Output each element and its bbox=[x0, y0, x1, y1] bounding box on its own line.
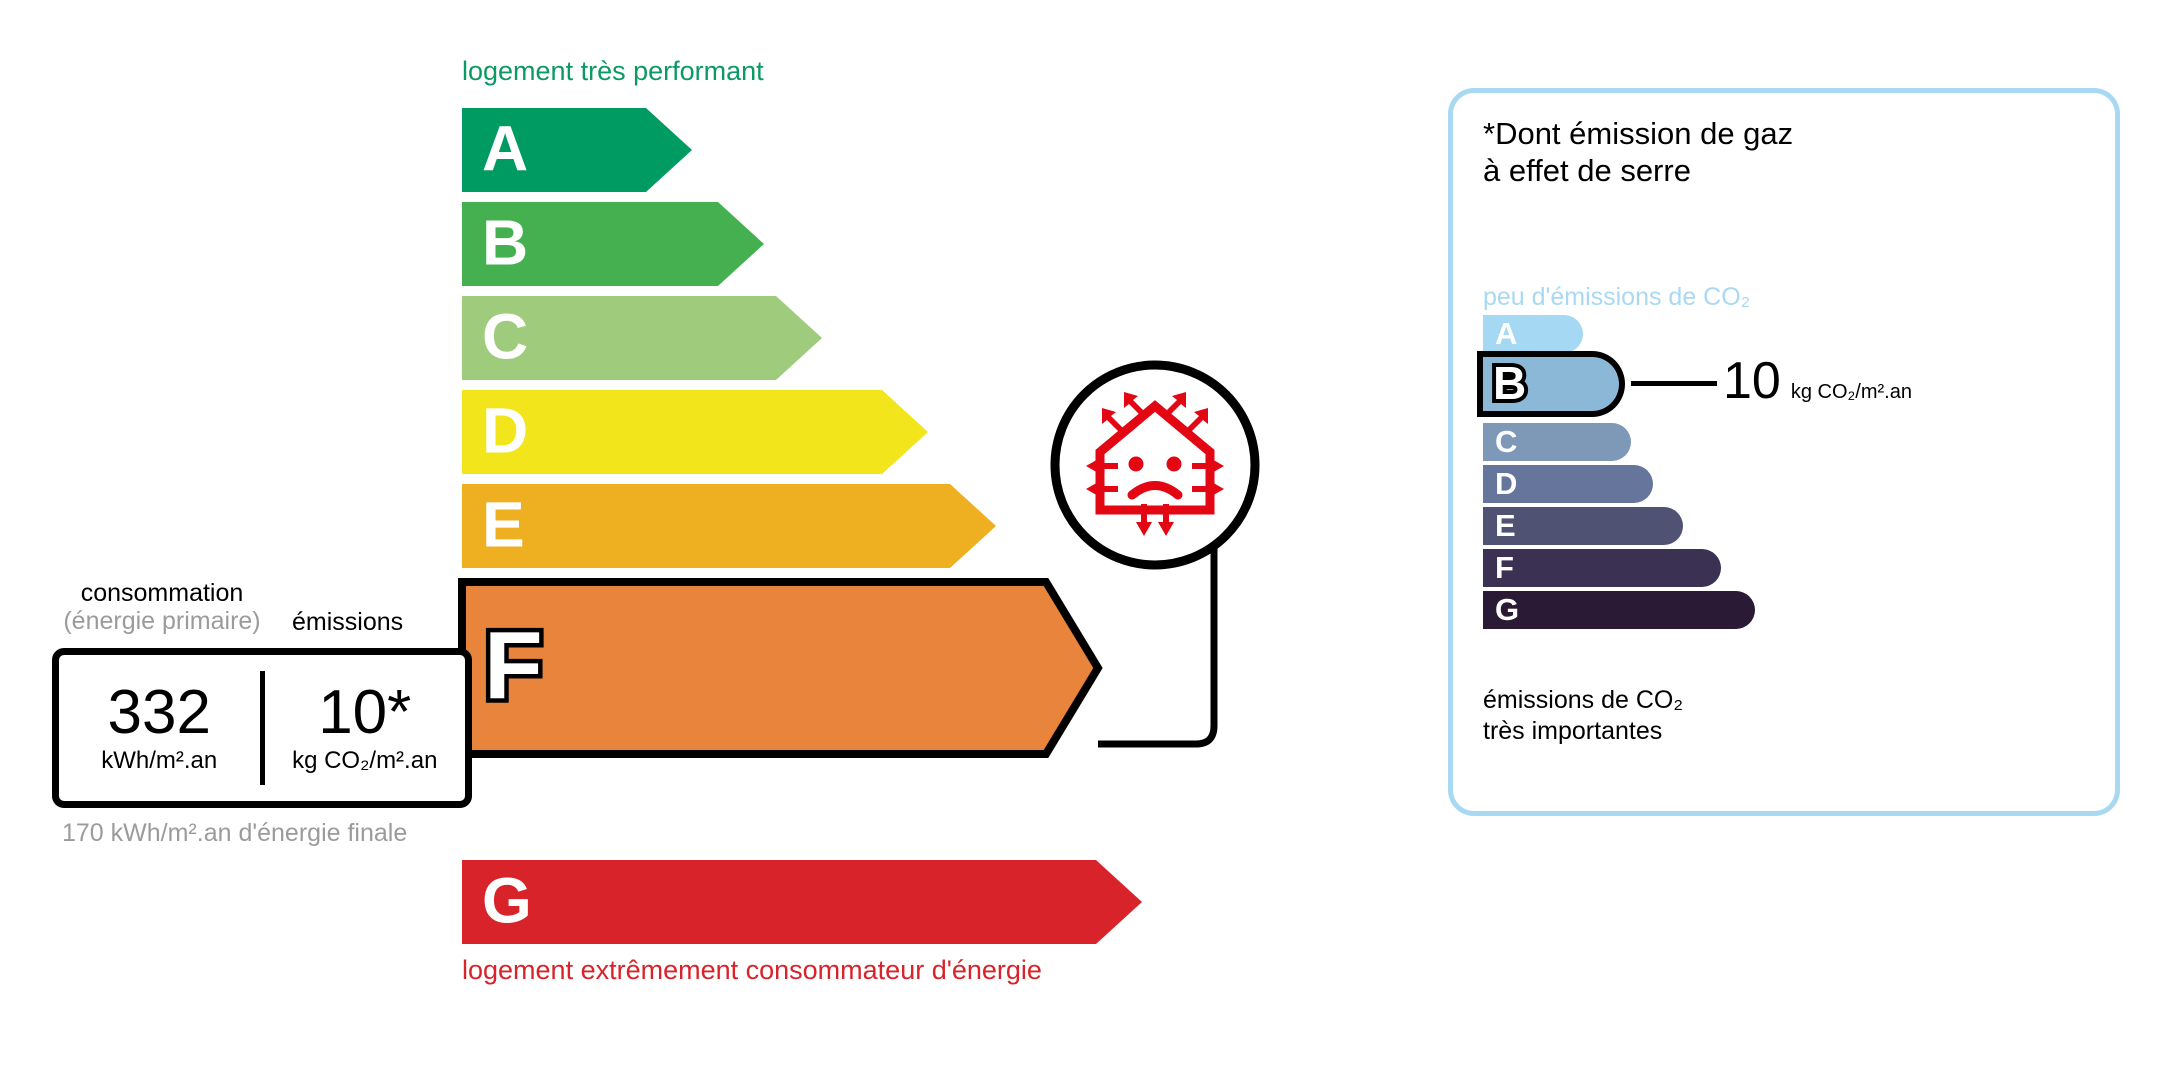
ges-bar-d-letter: D bbox=[1495, 468, 1517, 499]
ges-bar-g[interactable]: G bbox=[1483, 591, 1755, 629]
energy-band-d-shape bbox=[462, 390, 928, 474]
greenhouse-gas-panel: *Dont émission de gaz à effet de serre p… bbox=[1448, 88, 2120, 816]
energy-band-d-letter: D bbox=[482, 399, 528, 463]
sad-house-heat-loss-icon bbox=[1048, 358, 1262, 572]
ges-bar-d[interactable]: D bbox=[1483, 465, 1653, 503]
ges-scale-top-label: peu d'émissions de CO₂ bbox=[1483, 283, 1750, 312]
emissions-value: 10* bbox=[318, 681, 411, 744]
ges-value-group: 10 kg CO₂/m².an bbox=[1723, 355, 1912, 407]
ges-bar-b-letter: B bbox=[1493, 360, 1526, 406]
ges-bar-g-shape bbox=[1483, 591, 1755, 629]
ges-bar-e[interactable]: E bbox=[1483, 507, 1683, 545]
ges-bar-g-letter: G bbox=[1495, 594, 1519, 625]
energy-band-f-letter: F bbox=[484, 618, 543, 714]
energy-scale-bottom-label: logement extrêmement consommateur d'éner… bbox=[462, 955, 1042, 986]
ges-value-leader-line bbox=[1631, 381, 1717, 386]
energy-band-b[interactable]: B bbox=[462, 202, 764, 286]
emissions-value-cell: 10* kg CO₂/m².an bbox=[265, 655, 466, 801]
energy-band-d[interactable]: D bbox=[462, 390, 928, 474]
energy-performance-diagram: logement très performant A B C D E F G l… bbox=[0, 0, 1400, 1079]
ges-bar-e-letter: E bbox=[1495, 510, 1516, 541]
ges-bar-b-left-edge bbox=[1477, 351, 1483, 417]
energy-band-g-letter: G bbox=[482, 869, 532, 933]
ges-bar-b-selected[interactable]: B bbox=[1477, 351, 1625, 417]
final-energy-note: 170 kWh/m².an d'énergie finale bbox=[62, 818, 407, 849]
energy-band-e[interactable]: E bbox=[462, 484, 996, 568]
emissions-label: émissions bbox=[292, 608, 403, 637]
emissions-unit: kg CO₂/m².an bbox=[292, 747, 437, 775]
ges-bar-f[interactable]: F bbox=[1483, 549, 1721, 587]
ges-panel-title: *Dont émission de gaz à effet de serre bbox=[1483, 115, 1793, 189]
energy-band-b-letter: B bbox=[482, 211, 528, 275]
ges-bar-c-letter: C bbox=[1495, 426, 1517, 457]
ges-bar-c[interactable]: C bbox=[1483, 423, 1631, 461]
consumption-value-cell: 332 kWh/m².an bbox=[59, 655, 260, 801]
energy-scale-top-label: logement très performant bbox=[462, 56, 764, 87]
ges-bar-a-letter: A bbox=[1495, 318, 1517, 349]
measurement-box: 332 kWh/m².an 10* kg CO₂/m².an bbox=[52, 648, 472, 808]
energy-band-a[interactable]: A bbox=[462, 108, 692, 192]
ges-bar-f-shape bbox=[1483, 549, 1721, 587]
consumption-unit: kWh/m².an bbox=[101, 747, 217, 775]
ges-scale-bottom-label: émissions de CO₂ très importantes bbox=[1483, 685, 1683, 746]
energy-band-g[interactable]: G bbox=[462, 860, 1142, 944]
consumption-value: 332 bbox=[108, 681, 211, 744]
consumption-label-sub: (énergie primaire) bbox=[63, 607, 260, 635]
energy-band-c[interactable]: C bbox=[462, 296, 822, 380]
ges-unit: kg CO₂/m².an bbox=[1791, 381, 1912, 404]
ges-bar-a[interactable]: A bbox=[1483, 315, 1583, 353]
energy-band-c-letter: C bbox=[482, 305, 528, 369]
consumption-label-main: consommation bbox=[81, 579, 244, 607]
ges-bar-f-letter: F bbox=[1495, 552, 1514, 583]
energy-band-e-shape bbox=[462, 484, 996, 568]
energy-band-g-shape bbox=[462, 860, 1142, 944]
energy-band-f-selected[interactable]: F bbox=[462, 578, 1102, 758]
energy-band-f-shape bbox=[462, 582, 1098, 754]
energy-band-a-letter: A bbox=[482, 117, 528, 181]
ges-value: 10 bbox=[1723, 355, 1781, 407]
consumption-label: consommation (énergie primaire) bbox=[62, 580, 262, 635]
energy-band-e-letter: E bbox=[482, 493, 525, 557]
